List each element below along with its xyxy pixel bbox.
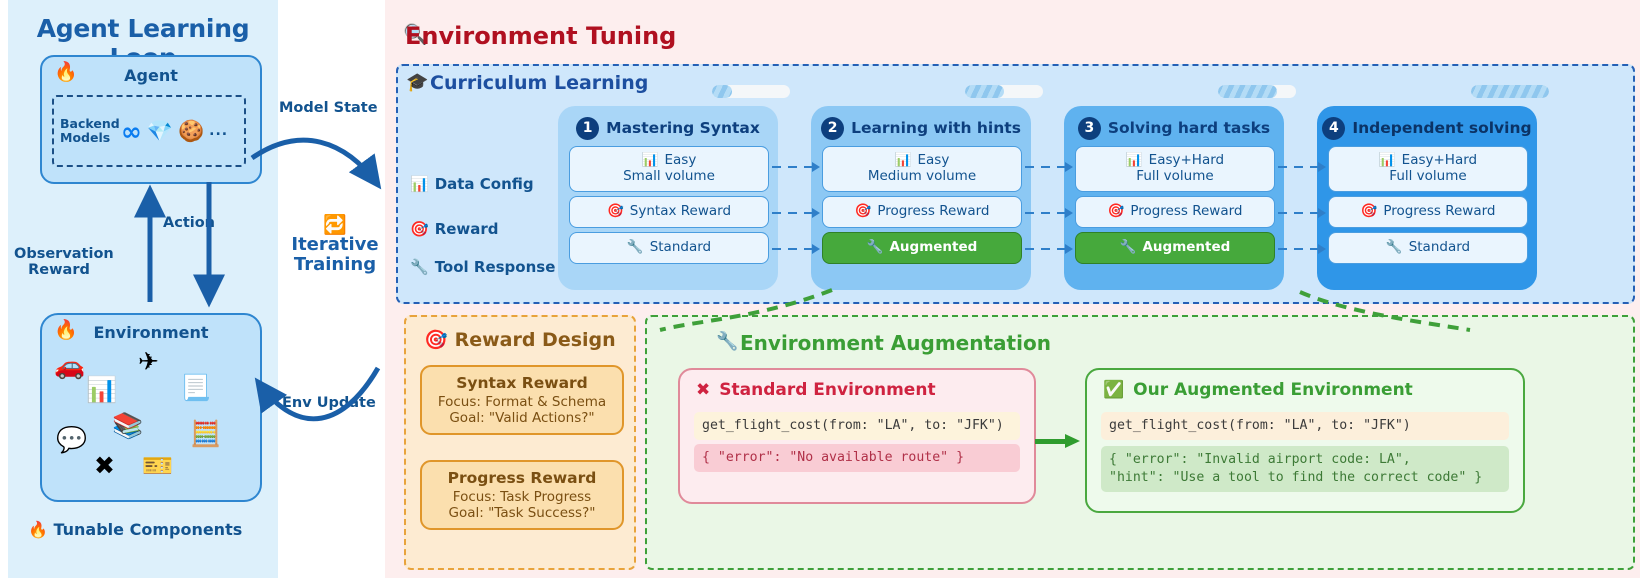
standard-environment-card: ✖ Standard Environment get_flight_cost(f… bbox=[678, 368, 1036, 504]
stage-card-1[interactable]: 1 Mastering Syntax 📊Easy Small volume 🎯S… bbox=[558, 106, 778, 290]
stage-4-reward-cell[interactable]: 🎯Progress Reward bbox=[1328, 196, 1528, 228]
refresh-loop-icon: 🔁 bbox=[288, 216, 382, 235]
bar-chart-icon: 📊 bbox=[410, 175, 429, 193]
target-icon: 🎯 bbox=[1108, 204, 1125, 220]
car-icon: 🚗 bbox=[54, 353, 85, 378]
iterative-training-line2: Training bbox=[288, 255, 382, 275]
stage-1-reward-cell[interactable]: 🎯Syntax Reward bbox=[569, 196, 769, 228]
environment-box: 🔥 Environment 🚗 📊 ✈ 📃 💬 📚 🧮 ✖ 🎫 bbox=[40, 313, 262, 502]
stage-number-1: 1 bbox=[576, 117, 599, 140]
model-state-label: Model State bbox=[279, 100, 378, 116]
transition-arrowhead bbox=[1318, 162, 1326, 172]
observation-reward-label: ObservationReward bbox=[14, 246, 104, 278]
transition-arrow-2-3-data bbox=[1025, 166, 1065, 168]
iterative-training-group: 🔁 Iterative Training bbox=[288, 216, 382, 275]
agent-learning-loop-panel: Agent Learning Loop 🔥 Agent BackendModel… bbox=[8, 0, 278, 578]
meta-infinity-icon: ∞ bbox=[121, 119, 142, 144]
stage-4-data-config-cell[interactable]: 📊Easy+Hard Full volume bbox=[1328, 146, 1528, 192]
stage-number-2: 2 bbox=[821, 117, 844, 140]
transition-arrow-3-4-reward bbox=[1278, 212, 1318, 214]
stage-header-1: 1 Mastering Syntax bbox=[558, 115, 778, 141]
progress-fill-2 bbox=[965, 85, 1004, 98]
backend-models-label: BackendModels bbox=[60, 117, 116, 145]
stage-2-data-config-cell[interactable]: 📊Easy Medium volume bbox=[822, 146, 1022, 192]
progress-bar-stage-1 bbox=[712, 85, 790, 98]
stage-4-tool-cell[interactable]: 🔧Standard bbox=[1328, 232, 1528, 264]
stage-card-3[interactable]: 3 Solving hard tasks 📊Easy+Hard Full vol… bbox=[1064, 106, 1284, 290]
chart-window-icon: 📊 bbox=[86, 377, 117, 402]
stage-card-4[interactable]: 4 Independent solving 📊Easy+Hard Full vo… bbox=[1317, 106, 1537, 290]
check-mark-icon: ✅ bbox=[1103, 380, 1124, 400]
target-icon: 🎯 bbox=[410, 220, 429, 238]
transition-arrow-3-4-data bbox=[1278, 166, 1318, 168]
tunable-components-label: 🔥 Tunable Components bbox=[28, 520, 278, 539]
transform-arrow bbox=[1035, 434, 1081, 448]
stage-card-2[interactable]: 2 Learning with hints 📊Easy Medium volum… bbox=[811, 106, 1031, 290]
stage-name-4: Independent solving bbox=[1352, 119, 1531, 137]
environment-icon-cloud: 🚗 📊 ✈ 📃 💬 📚 🧮 ✖ 🎫 bbox=[50, 349, 250, 494]
flight-booking-icon: ✈ bbox=[138, 349, 159, 374]
x-social-icon: ✖ bbox=[94, 453, 115, 478]
wrench-icon: 🔧 bbox=[1386, 240, 1403, 256]
row-label-data-config: 📊Data Config bbox=[410, 175, 534, 193]
more-models-label: ... bbox=[209, 123, 228, 139]
cross-mark-icon: ✖ bbox=[696, 380, 710, 400]
book-search-icon: 📚 bbox=[112, 413, 143, 438]
stage-2-reward-cell[interactable]: 🎯Progress Reward bbox=[822, 196, 1022, 228]
stage-header-4: 4 Independent solving bbox=[1317, 115, 1537, 141]
transition-arrowhead bbox=[1065, 162, 1073, 172]
chat-bubble-icon: 💬 bbox=[56, 427, 87, 452]
stage-number-3: 3 bbox=[1078, 117, 1101, 140]
row-label-tool-response: 🔧Tool Response bbox=[410, 258, 555, 276]
environment-augmentation-title: Environment Augmentation bbox=[740, 331, 1051, 355]
wrench-icon: 🔧 bbox=[410, 258, 429, 276]
standard-result-code: { "error": "No available route" } bbox=[694, 444, 1020, 472]
stage-2-tool-cell[interactable]: 🔧Augmented bbox=[822, 232, 1022, 264]
curriculum-learning-title: Curriculum Learning bbox=[430, 72, 648, 94]
calculator-icon: 🧮 bbox=[190, 421, 221, 446]
backend-models-group: BackendModels ∞ 💎 🍪 ... bbox=[52, 95, 246, 167]
stage-3-data-config-cell[interactable]: 📊Easy+Hard Full volume bbox=[1075, 146, 1275, 192]
transition-arrow-2-3-tool bbox=[1025, 248, 1065, 250]
progress-fill-4 bbox=[1471, 85, 1549, 98]
graduation-cap-icon: 🎓 bbox=[406, 74, 428, 92]
progress-bar-stage-2 bbox=[965, 85, 1043, 98]
stage-header-3: 3 Solving hard tasks bbox=[1064, 115, 1284, 141]
huggingface-icon: 🍪 bbox=[178, 121, 204, 142]
target-icon: 🎯 bbox=[1361, 204, 1378, 220]
target-icon: 🎯 bbox=[855, 204, 872, 220]
progress-fill-1 bbox=[712, 85, 732, 98]
stage-3-tool-cell[interactable]: 🔧Augmented bbox=[1075, 232, 1275, 264]
transition-arrow-1-2-data bbox=[772, 166, 812, 168]
bar-chart-icon: 📊 bbox=[1379, 153, 1396, 169]
progress-fill-3 bbox=[1218, 85, 1277, 98]
transition-arrow-1-2-tool bbox=[772, 248, 812, 250]
agent-title: Agent bbox=[42, 66, 260, 85]
stage-3-reward-cell[interactable]: 🎯Progress Reward bbox=[1075, 196, 1275, 228]
reward-card-syntax-body: Focus: Format & Schema Goal: "Valid Acti… bbox=[422, 394, 622, 427]
wrench-icon-augmentation: 🔧 bbox=[716, 333, 738, 351]
transition-arrow-3-4-tool bbox=[1278, 248, 1318, 250]
document-settings-icon: 📃 bbox=[180, 375, 211, 400]
progress-bar-stage-3 bbox=[1218, 85, 1296, 98]
environment-title: Environment bbox=[42, 323, 260, 342]
reward-card-syntax-heading: Syntax Reward bbox=[422, 374, 622, 392]
ticket-icon: 🎫 bbox=[142, 453, 173, 478]
transition-arrowhead bbox=[812, 244, 820, 254]
reward-card-progress-heading: Progress Reward bbox=[422, 469, 622, 487]
stage-name-3: Solving hard tasks bbox=[1108, 119, 1270, 137]
wrench-icon: 🔧 bbox=[1120, 240, 1137, 256]
reward-card-progress[interactable]: Progress Reward Focus: Task Progress Goa… bbox=[420, 460, 624, 530]
standard-environment-heading: ✖ Standard Environment bbox=[696, 380, 936, 400]
transition-arrowhead bbox=[812, 208, 820, 218]
stage-number-4: 4 bbox=[1322, 117, 1345, 140]
stage-name-1: Mastering Syntax bbox=[606, 119, 760, 137]
target-icon: 🎯 bbox=[607, 204, 624, 220]
action-label: Action bbox=[163, 215, 215, 231]
reward-card-syntax[interactable]: Syntax Reward Focus: Format & Schema Goa… bbox=[420, 365, 624, 435]
stage-1-data-config-cell[interactable]: 📊Easy Small volume bbox=[569, 146, 769, 192]
figure-root: Agent Learning Loop 🔥 Agent BackendModel… bbox=[0, 0, 1640, 578]
transition-arrowhead bbox=[1065, 208, 1073, 218]
wrench-icon: 🔧 bbox=[867, 240, 884, 256]
reward-design-title: 🎯 Reward Design bbox=[406, 328, 634, 351]
stage-1-tool-cell[interactable]: 🔧Standard bbox=[569, 232, 769, 264]
transition-arrowhead bbox=[1318, 244, 1326, 254]
bar-chart-icon: 📊 bbox=[642, 153, 659, 169]
agent-box: 🔥 Agent BackendModels ∞ 💎 🍪 ... bbox=[40, 55, 262, 184]
stage-header-2: 2 Learning with hints bbox=[811, 115, 1031, 141]
transition-arrow-1-2-reward bbox=[772, 212, 812, 214]
bar-chart-icon: 📊 bbox=[1126, 153, 1143, 169]
bar-chart-icon: 📊 bbox=[895, 153, 912, 169]
row-label-reward: 🎯Reward bbox=[410, 220, 499, 238]
transition-arrowhead bbox=[812, 162, 820, 172]
wrench-icon: 🔧 bbox=[627, 240, 644, 256]
augmented-environment-heading: ✅ Our Augmented Environment bbox=[1103, 380, 1413, 400]
reward-card-progress-body: Focus: Task Progress Goal: "Task Success… bbox=[422, 489, 622, 522]
stage-name-2: Learning with hints bbox=[851, 119, 1021, 137]
env-update-label: Env Update bbox=[282, 395, 376, 411]
gemini-sparkle-icon: 💎 bbox=[147, 121, 173, 142]
environment-tuning-title: Environment Tuning bbox=[405, 22, 676, 50]
transition-arrowhead bbox=[1318, 208, 1326, 218]
iterative-training-line1: Iterative bbox=[288, 235, 382, 255]
transition-arrow-2-3-reward bbox=[1025, 212, 1065, 214]
augmented-environment-card: ✅ Our Augmented Environment get_flight_c… bbox=[1085, 368, 1525, 513]
standard-call-code: get_flight_cost(from: "LA", to: "JFK") bbox=[694, 412, 1020, 440]
reward-design-panel: 🎯 Reward Design Syntax Reward Focus: For… bbox=[404, 315, 636, 570]
progress-bar-stage-4 bbox=[1471, 85, 1549, 98]
transition-arrowhead bbox=[1065, 244, 1073, 254]
augmented-call-code: get_flight_cost(from: "LA", to: "JFK") bbox=[1101, 412, 1509, 440]
augmented-result-code: { "error": "Invalid airport code: LA", "… bbox=[1101, 446, 1509, 492]
